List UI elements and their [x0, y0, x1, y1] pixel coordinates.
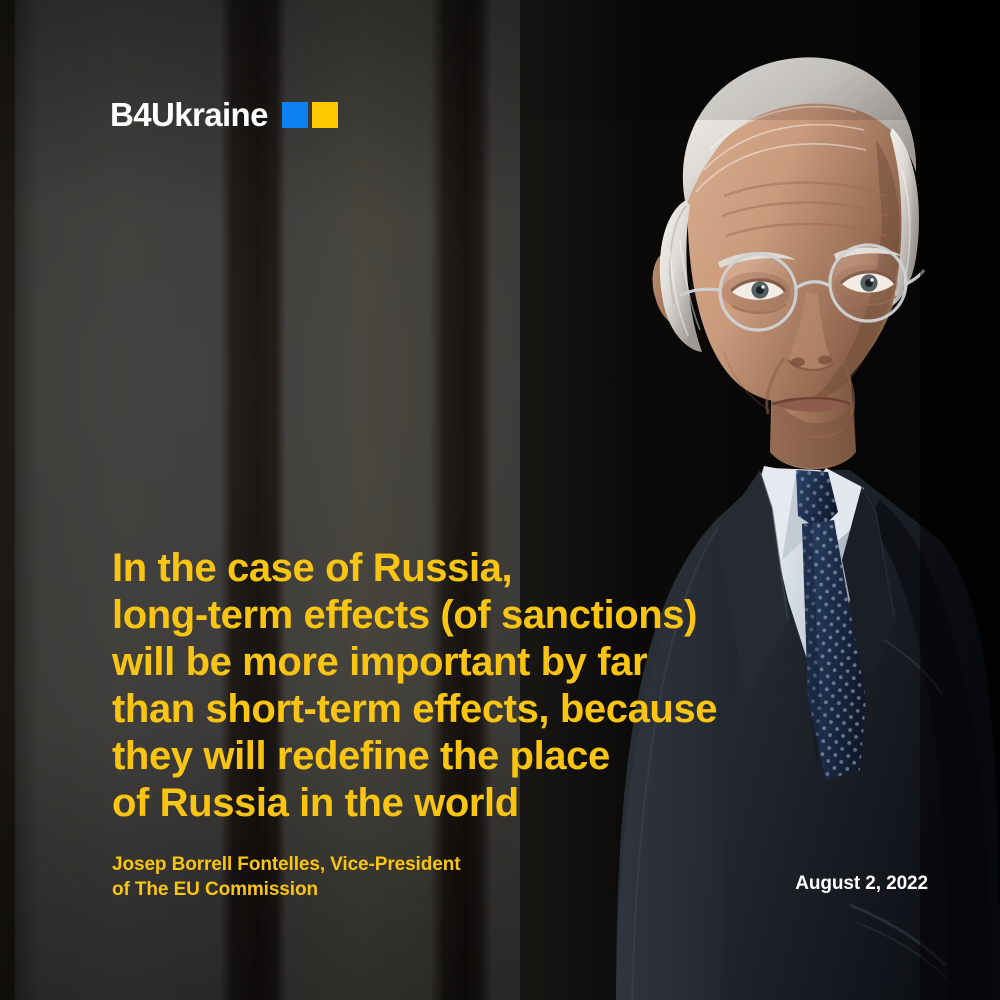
quote-line: will be more important by far: [112, 639, 852, 686]
flag-square-yellow: [312, 102, 338, 128]
quote-text: In the case of Russia, long-term effects…: [112, 545, 852, 827]
quote-line: In the case of Russia,: [112, 545, 852, 592]
logo-wordmark: B4Ukraine: [110, 98, 268, 131]
ukraine-flag-icon: [282, 102, 338, 128]
portrait-josep-borrell: [520, 0, 1000, 1000]
quote-line: they will redefine the place: [112, 733, 852, 780]
attribution-line: Josep Borrell Fontelles, Vice-President: [112, 852, 672, 877]
quote-card: B4Ukraine In the case of Russia, long-te…: [0, 0, 1000, 1000]
quote-line: of Russia in the world: [112, 780, 852, 827]
quote-line: than short-term effects, because: [112, 686, 852, 733]
b4ukraine-logo[interactable]: B4Ukraine: [110, 98, 338, 131]
date-label: August 2, 2022: [795, 873, 928, 895]
flag-square-blue: [282, 102, 308, 128]
attribution-line: of The EU Commission: [112, 877, 672, 902]
quote-attribution: Josep Borrell Fontelles, Vice-President …: [112, 852, 672, 902]
quote-line: long-term effects (of sanctions): [112, 592, 852, 639]
